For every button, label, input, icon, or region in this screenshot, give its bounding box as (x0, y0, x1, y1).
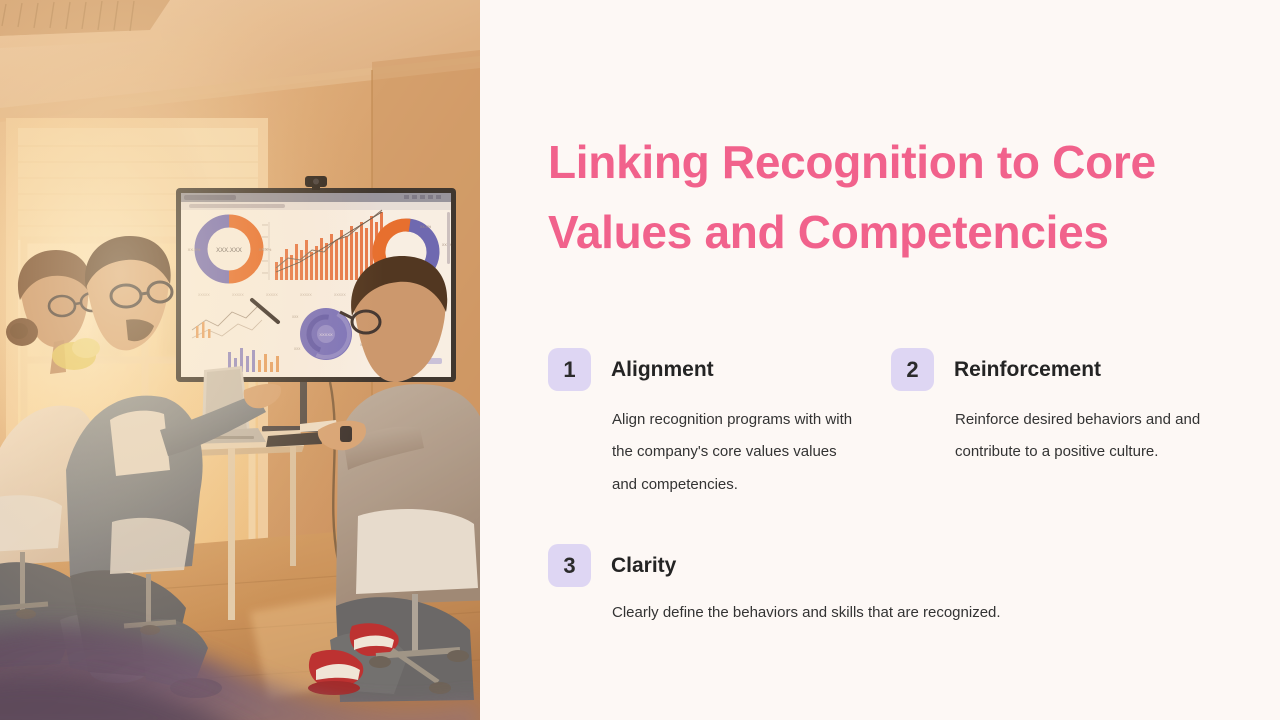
list-item-alignment: 1 Alignment Align recognition programs w… (548, 348, 858, 501)
list-item-description: Reinforce desired behaviors and and cont… (955, 404, 1201, 469)
list-item-title: Reinforcement (954, 348, 1101, 391)
list-item-title: Alignment (611, 348, 714, 391)
meeting-room-photo: XXX.XXX XX.X% XX.X% (0, 0, 480, 720)
number-badge-1: 1 (548, 348, 591, 391)
number-badge-3: 3 (548, 544, 591, 587)
list-item-header: 3 Clarity (548, 544, 1188, 587)
list-item-header: 2 Reinforcement (891, 348, 1201, 391)
number-badge-2: 2 (891, 348, 934, 391)
presentation-slide: XXX.XXX XX.X% XX.X% (0, 0, 1280, 720)
list-item-header: 1 Alignment (548, 348, 858, 391)
content-panel: Linking Recognition to Core Values and C… (480, 0, 1280, 720)
list-item-description: Clearly define the behaviors and skills … (612, 597, 1188, 629)
list-item-description: Align recognition programs with with the… (612, 404, 858, 501)
list-item-reinforcement: 2 Reinforcement Reinforce desired behavi… (891, 348, 1201, 469)
page-title: Linking Recognition to Core Values and C… (548, 128, 1188, 268)
list-item-title: Clarity (611, 544, 676, 587)
list-item-clarity: 3 Clarity Clearly define the behaviors a… (548, 544, 1188, 629)
photo-illustration: XXX.XXX XX.X% XX.X% (0, 0, 480, 720)
